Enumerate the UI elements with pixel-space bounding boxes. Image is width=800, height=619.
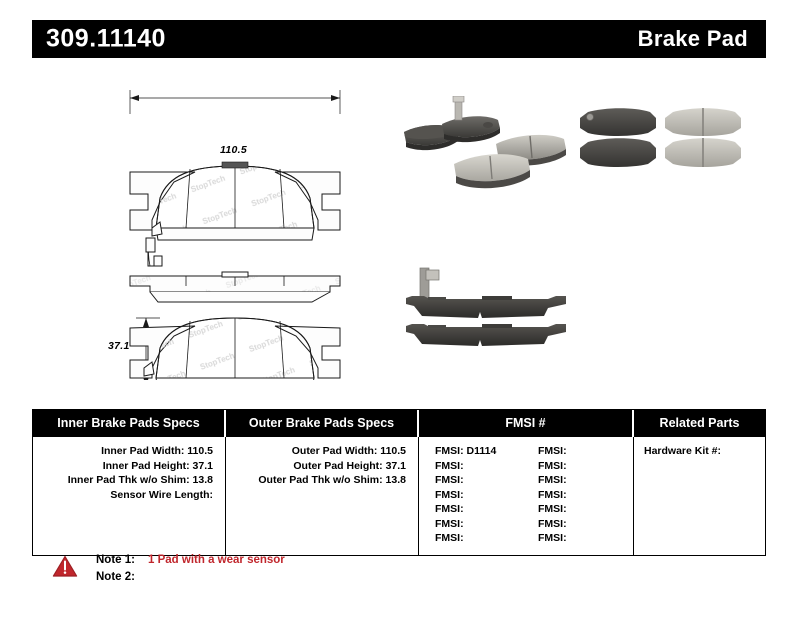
spec-inner-thickness: Inner Pad Thk w/o Shim: 13.8 — [33, 473, 225, 488]
note-row: Note 2: — [96, 569, 285, 586]
pad-drawing-svg: StopTech — [90, 70, 390, 380]
cell-inner-specs: Inner Pad Width: 110.5 Inner Pad Height:… — [33, 437, 226, 555]
fmsi-entry: FMSI: — [530, 517, 633, 532]
fmsi-entry: FMSI: — [427, 488, 530, 503]
fmsi-entry: FMSI: — [530, 502, 633, 517]
spec-sensor-wire-length: Sensor Wire Length: — [33, 488, 225, 503]
cell-fmsi: FMSI: D1114 FMSI: FMSI: FMSI: FMSI: FMSI… — [419, 437, 634, 555]
column-header-fmsi: FMSI # — [419, 410, 634, 437]
spec-inner-width: Inner Pad Width: 110.5 — [33, 444, 225, 459]
note-rows: Note 1: 1 Pad with a wear sensor Note 2: — [96, 552, 285, 586]
fmsi-entry: FMSI: D1114 — [427, 444, 530, 459]
fmsi-entry: FMSI: — [530, 444, 633, 459]
fmsi-column-right: FMSI: FMSI: FMSI: FMSI: FMSI: FMSI: FMSI… — [530, 444, 633, 546]
note-1-label: Note 1: — [96, 552, 148, 569]
inner-specs-list: Inner Pad Width: 110.5 Inner Pad Height:… — [33, 444, 225, 502]
fmsi-entry: FMSI: — [530, 459, 633, 474]
column-header-inner: Inner Brake Pads Specs — [33, 410, 226, 437]
fmsi-entry: FMSI: — [530, 488, 633, 503]
warning-triangle-icon — [52, 555, 78, 578]
cell-related-parts: Hardware Kit #: — [634, 437, 765, 555]
note-2-label: Note 2: — [96, 569, 148, 586]
fmsi-entry: FMSI: — [427, 473, 530, 488]
fmsi-entry: FMSI: — [427, 459, 530, 474]
page-title: Brake Pad — [638, 26, 748, 52]
dimension-height-label: 37.1 — [108, 340, 130, 352]
fmsi-columns: FMSI: D1114 FMSI: FMSI: FMSI: FMSI: FMSI… — [419, 444, 633, 546]
photo-pads-angled-set — [398, 96, 573, 191]
fmsi-entry: FMSI: — [427, 531, 530, 546]
fmsi-entry: FMSI: — [427, 502, 530, 517]
cell-outer-specs: Outer Pad Width: 110.5 Outer Pad Height:… — [226, 437, 419, 555]
fmsi-entry: FMSI: — [427, 517, 530, 532]
fmsi-entry: FMSI: — [530, 531, 633, 546]
header-bar: 309.11140 Brake Pad — [32, 20, 766, 58]
column-header-related: Related Parts — [634, 410, 765, 437]
spec-outer-height: Outer Pad Height: 37.1 — [226, 459, 418, 474]
specs-table-header-row: Inner Brake Pads Specs Outer Brake Pads … — [33, 410, 765, 437]
spec-sheet-page: 309.11140 Brake Pad 110.5 37.1 13.8 Stop… — [0, 0, 800, 619]
spec-outer-width: Outer Pad Width: 110.5 — [226, 444, 418, 459]
photo-pads-edge-set — [398, 256, 573, 356]
dimension-width-label: 110.5 — [220, 144, 247, 156]
specs-table: Inner Brake Pads Specs Outer Brake Pads … — [32, 409, 766, 556]
spec-outer-thickness: Outer Pad Thk w/o Shim: 13.8 — [226, 473, 418, 488]
fmsi-entry: FMSI: — [530, 473, 633, 488]
related-part-hardware-kit: Hardware Kit #: — [644, 444, 765, 459]
part-number: 309.11140 — [46, 25, 166, 54]
photo-pads-grid-set — [572, 106, 747, 178]
spec-inner-height: Inner Pad Height: 37.1 — [33, 459, 225, 474]
outer-specs-list: Outer Pad Width: 110.5 Outer Pad Height:… — [226, 444, 418, 488]
note-row: Note 1: 1 Pad with a wear sensor — [96, 552, 285, 569]
fmsi-column-left: FMSI: D1114 FMSI: FMSI: FMSI: FMSI: FMSI… — [427, 444, 530, 546]
column-header-outer: Outer Brake Pads Specs — [226, 410, 419, 437]
note-1-value: 1 Pad with a wear sensor — [148, 552, 285, 569]
technical-drawing: 110.5 37.1 13.8 StopTech — [90, 70, 390, 380]
specs-table-body: Inner Pad Width: 110.5 Inner Pad Height:… — [33, 437, 765, 555]
